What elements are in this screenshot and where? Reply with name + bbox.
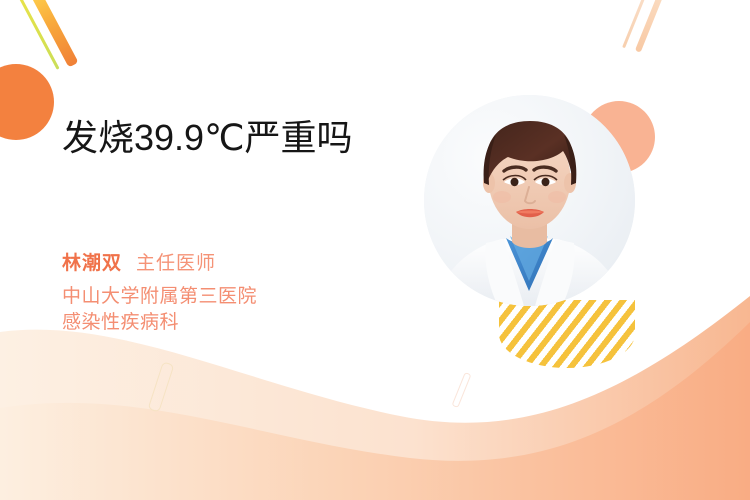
amber-diagonal-stroke-decoration: [28, 0, 78, 68]
doctor-professional-title: 主任医师: [136, 248, 216, 275]
orange-circle-decoration: [0, 64, 54, 140]
doctor-name: 林潮双: [62, 248, 122, 275]
doctor-credentials: 林潮双 主任医师 中山大学附属第三医院 感染性疾病科: [62, 248, 257, 336]
doctor-name-row: 林潮双 主任医师: [62, 248, 257, 275]
doctor-department: 感染性疾病科: [62, 310, 257, 336]
peach-diagonal-stroke-decoration-thin: [622, 0, 649, 48]
page-title: 发烧39.9℃严重吗: [62, 118, 353, 158]
doctor-portrait-avatar: [424, 95, 635, 306]
peach-diagonal-stroke-decoration: [635, 0, 665, 53]
lime-diagonal-stroke-decoration: [17, 0, 59, 70]
doctor-health-card: 发烧39.9℃严重吗 林潮双 主任医师 中山大学附属第三医院 感染性疾病科: [0, 0, 750, 500]
doctor-hospital: 中山大学附属第三医院: [62, 284, 257, 310]
